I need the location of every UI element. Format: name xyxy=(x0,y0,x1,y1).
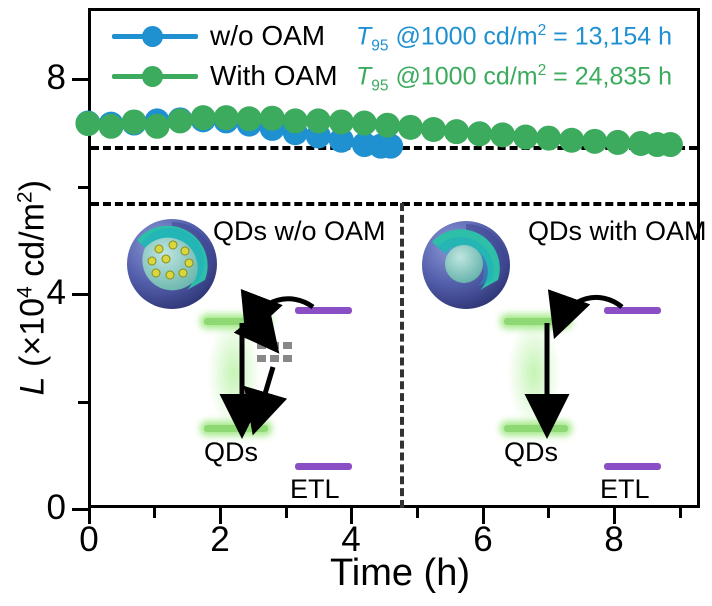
y-tick-minor-2 xyxy=(78,401,88,404)
legend-marker-with-oam xyxy=(112,66,198,86)
y-axis-title: L (×104 cd/m2) xyxy=(13,138,52,438)
x-label-0: 0 xyxy=(59,522,119,557)
inset-right-title: QDs with OAM xyxy=(528,216,707,247)
reference-line-t95 xyxy=(91,146,697,150)
trapping-arrow-left xyxy=(258,327,270,342)
y-axis-open: (×10 xyxy=(14,298,52,376)
etl-lower-level-left xyxy=(295,463,352,470)
chart-figure: 8 4 0 0 2 4 6 8 L (×104 cd/m2) Time (h) … xyxy=(0,0,712,606)
electron-injection-arrow-left xyxy=(251,299,313,325)
annotation-mid-blue: @1000 cd/m xyxy=(389,22,538,50)
y-axis-symbol: L xyxy=(14,376,52,395)
electron-injection-arrow-right xyxy=(559,297,622,325)
etl-label-right: ETL xyxy=(600,474,650,505)
inset-divider xyxy=(400,203,404,508)
y-tick-minor-6 xyxy=(78,186,88,189)
x-tick-minor-7 xyxy=(547,508,550,518)
legend-label-wo-oam: w/o OAM xyxy=(210,20,325,52)
x-tick-minor-3 xyxy=(285,508,288,518)
etl-label-left: ETL xyxy=(290,474,340,505)
y-tick-0 xyxy=(72,508,88,511)
annotation-sub-blue: 95 xyxy=(371,37,388,54)
etl-lower-level-right xyxy=(604,463,661,470)
nonradiative-arrow-left xyxy=(257,367,273,421)
qd-label-left: QDs xyxy=(204,437,258,468)
annotation-t95-wo-oam: T95 @1000 cd/m2 = 13,154 h xyxy=(356,22,672,55)
right-inset-arrows xyxy=(495,285,675,440)
y-tick-8 xyxy=(72,78,88,81)
y-axis-unit: cd/m xyxy=(14,203,52,286)
annotation-value-blue: = 13,154 h xyxy=(546,22,672,50)
x-tick-minor-1 xyxy=(153,508,156,518)
left-inset-arrows xyxy=(195,285,375,440)
legend-item-wo-oam[interactable]: w/o OAM xyxy=(112,16,338,56)
y-axis-unit-exp: 2 xyxy=(13,191,36,203)
annotation-value-green: = 24,835 h xyxy=(546,62,672,90)
annotation-mid-green: @1000 cd/m xyxy=(389,62,538,90)
x-tick-minor-9 xyxy=(679,508,682,518)
y-axis-exp: 4 xyxy=(13,286,36,298)
annotation-symbol-green: T xyxy=(356,62,371,90)
y-label-8: 8 xyxy=(6,60,66,95)
x-label-8: 8 xyxy=(584,522,644,557)
legend-marker-wo-oam xyxy=(112,26,198,46)
x-tick-minor-5 xyxy=(416,508,419,518)
reference-line-inset-top xyxy=(91,202,697,206)
y-label-0: 0 xyxy=(6,490,66,525)
inset-left-title: QDs w/o OAM xyxy=(213,216,386,247)
annotation-symbol-blue: T xyxy=(356,22,371,50)
legend-label-with-oam: With OAM xyxy=(210,60,338,92)
qd-label-right: QDs xyxy=(504,437,558,468)
y-axis-close: ) xyxy=(14,180,52,191)
annotation-exp-green: 2 xyxy=(538,62,547,79)
legend: w/o OAM With OAM xyxy=(112,16,338,96)
annotation-exp-blue: 2 xyxy=(538,22,547,39)
legend-item-with-oam[interactable]: With OAM xyxy=(112,56,338,96)
y-tick-4 xyxy=(72,293,88,296)
annotation-t95-with-oam: T95 @1000 cd/m2 = 24,835 h xyxy=(356,62,672,95)
annotation-sub-green: 95 xyxy=(371,77,388,94)
x-axis-title: Time (h) xyxy=(220,552,580,595)
